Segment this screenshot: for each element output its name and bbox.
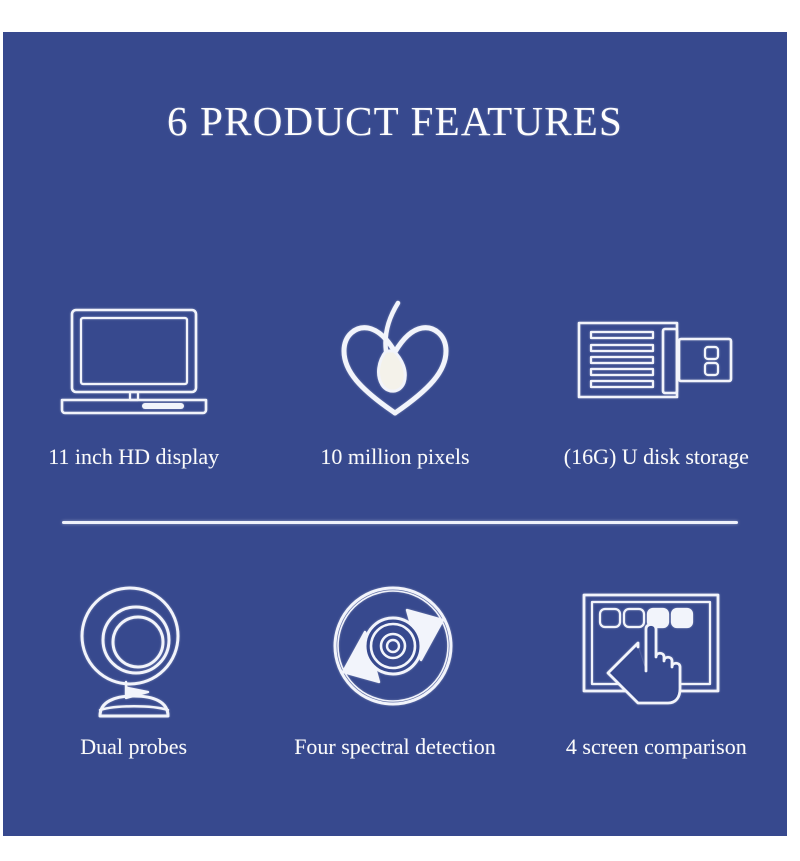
feature-label: 10 million pixels	[320, 444, 469, 470]
optical-disc-icon	[310, 580, 480, 720]
feature-label: (16G) U disk storage	[564, 444, 749, 470]
divider	[62, 521, 738, 524]
camera-probe-icon	[49, 580, 219, 720]
feature-label: 11 inch HD display	[48, 444, 219, 470]
feature-label: Dual probes	[80, 734, 187, 760]
feature-item-spectral: Four spectral detection	[264, 580, 525, 760]
feature-item-storage: (16G) U disk storage	[526, 290, 787, 470]
laptop-display-icon	[49, 290, 219, 430]
feature-row-top: 11 inch HD display 10 million pixels	[3, 290, 787, 470]
feature-label: 4 screen comparison	[566, 734, 747, 760]
page-title: 6 PRODUCT FEATURES	[3, 97, 787, 145]
feature-item-display: 11 inch HD display	[3, 290, 264, 470]
feature-label: Four spectral detection	[294, 734, 496, 760]
product-features-poster: 6 PRODUCT FEATURES 11 inch HD display	[3, 32, 787, 836]
screen-touch-hand-icon	[571, 580, 741, 720]
hair-follicle-heart-icon	[310, 290, 480, 430]
usb-flash-drive-icon	[571, 290, 741, 430]
feature-item-probes: Dual probes	[3, 580, 264, 760]
feature-row-bottom: Dual probes Four spectral	[3, 580, 787, 760]
feature-item-comparison: 4 screen comparison	[526, 580, 787, 760]
feature-item-pixels: 10 million pixels	[264, 290, 525, 470]
